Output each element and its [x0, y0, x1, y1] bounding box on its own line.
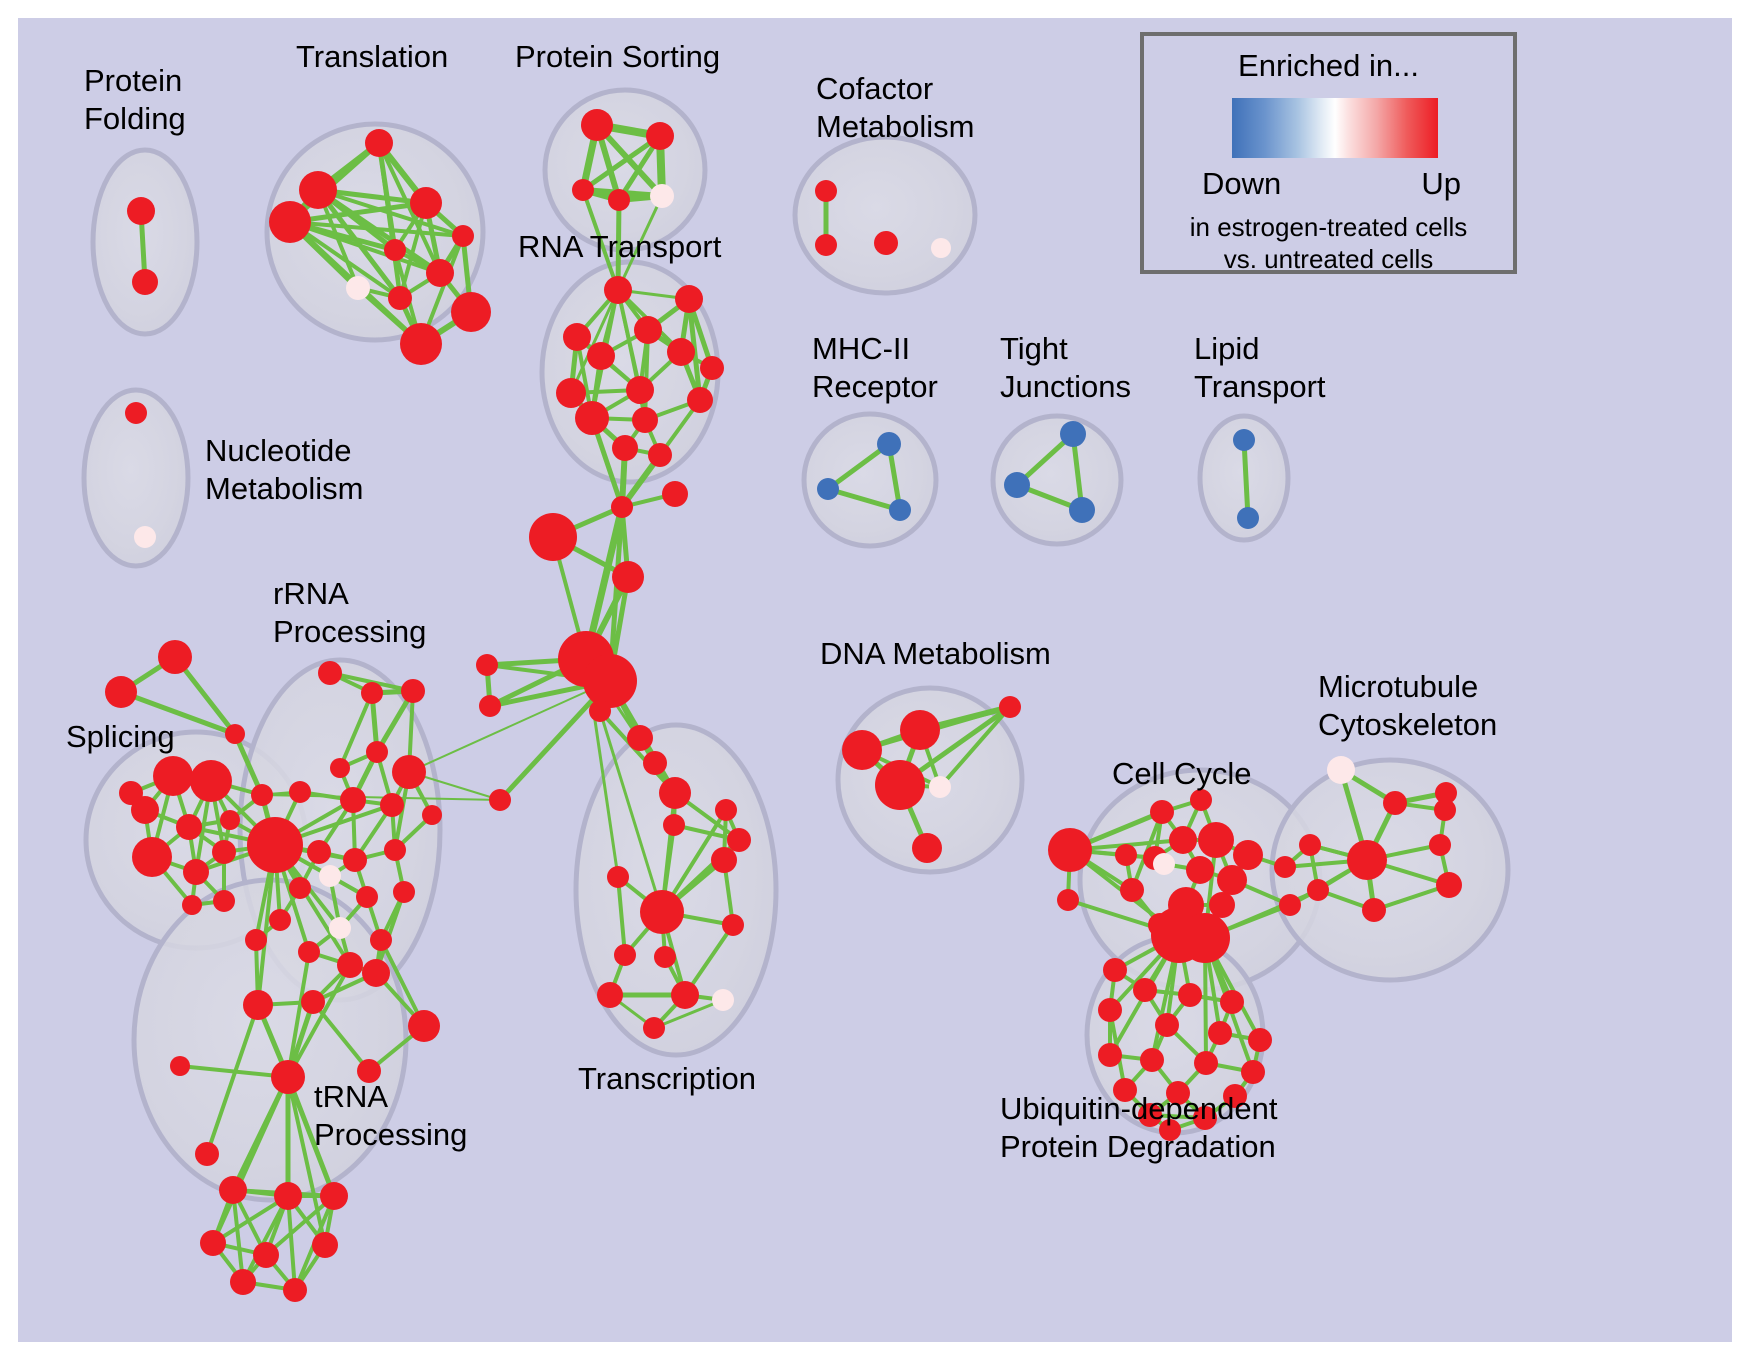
- legend-down-label: Down: [1202, 166, 1281, 202]
- network-node[interactable]: [105, 676, 137, 708]
- network-node[interactable]: [1241, 1060, 1265, 1084]
- network-node[interactable]: [158, 640, 192, 674]
- network-node[interactable]: [361, 682, 383, 704]
- network-node[interactable]: [320, 1182, 348, 1210]
- network-node[interactable]: [1133, 978, 1157, 1002]
- network-node[interactable]: [393, 881, 415, 903]
- network-node[interactable]: [614, 944, 636, 966]
- network-node[interactable]: [634, 316, 662, 344]
- network-node[interactable]: [220, 810, 240, 830]
- legend-subtitle-line-1: in estrogen-treated cells: [1144, 212, 1513, 243]
- network-node[interactable]: [659, 777, 691, 809]
- network-node[interactable]: [1299, 834, 1321, 856]
- network-node[interactable]: [401, 679, 425, 703]
- network-node[interactable]: [611, 496, 633, 518]
- network-node[interactable]: [643, 1017, 665, 1039]
- cluster-label-microtubule-cytoskeleton: Microtubule Cytoskeleton: [1318, 668, 1497, 744]
- network-node[interactable]: [589, 700, 611, 722]
- network-node[interactable]: [1383, 791, 1407, 815]
- network-node[interactable]: [343, 848, 367, 872]
- network-node[interactable]: [1069, 497, 1095, 523]
- network-node[interactable]: [1115, 844, 1137, 866]
- network-node[interactable]: [283, 1278, 307, 1302]
- network-node[interactable]: [1194, 1051, 1218, 1075]
- network-node[interactable]: [370, 929, 392, 951]
- network-node[interactable]: [999, 696, 1021, 718]
- network-node[interactable]: [388, 286, 412, 310]
- cluster-label-cell-cycle: Cell Cycle: [1112, 755, 1252, 793]
- network-node[interactable]: [451, 292, 491, 332]
- network-node[interactable]: [362, 959, 390, 987]
- network-node[interactable]: [212, 840, 236, 864]
- cluster-label-dna-metabolism: DNA Metabolism: [820, 635, 1051, 673]
- network-node[interactable]: [356, 886, 378, 908]
- network-node[interactable]: [289, 781, 311, 803]
- network-node[interactable]: [1169, 826, 1197, 854]
- cluster-label-splicing: Splicing: [66, 718, 175, 756]
- legend-title: Enriched in...: [1144, 48, 1513, 84]
- network-node[interactable]: [874, 231, 898, 255]
- network-node[interactable]: [597, 982, 623, 1008]
- network-node[interactable]: [912, 833, 942, 863]
- network-node[interactable]: [529, 513, 577, 561]
- network-node[interactable]: [1098, 1043, 1122, 1067]
- network-node[interactable]: [1057, 889, 1079, 911]
- network-node[interactable]: [722, 914, 744, 936]
- network-node[interactable]: [132, 269, 158, 295]
- network-node[interactable]: [842, 730, 882, 770]
- network-node[interactable]: [298, 941, 320, 963]
- network-node[interactable]: [132, 837, 172, 877]
- network-node[interactable]: [604, 276, 632, 304]
- network-node[interactable]: [727, 828, 751, 852]
- cluster-label-protein-sorting: Protein Sorting: [515, 38, 720, 76]
- network-node[interactable]: [1208, 1021, 1232, 1045]
- network-node[interactable]: [627, 725, 653, 751]
- network-node[interactable]: [575, 401, 609, 435]
- cluster-label-translation: Translation: [296, 38, 448, 76]
- network-node[interactable]: [274, 1182, 302, 1210]
- network-node[interactable]: [711, 847, 737, 873]
- network-node[interactable]: [289, 877, 311, 899]
- cluster-label-protein-folding: Protein Folding: [84, 62, 186, 138]
- network-node[interactable]: [1362, 898, 1386, 922]
- network-node[interactable]: [1120, 878, 1144, 902]
- network-node[interactable]: [1098, 998, 1122, 1022]
- legend-up-label: Up: [1421, 166, 1461, 202]
- network-node[interactable]: [583, 654, 637, 708]
- network-node[interactable]: [422, 805, 442, 825]
- network-node[interactable]: [587, 342, 615, 370]
- network-node[interactable]: [572, 179, 594, 201]
- network-node[interactable]: [712, 989, 734, 1011]
- network-node[interactable]: [607, 866, 629, 888]
- network-node[interactable]: [269, 909, 291, 931]
- network-node[interactable]: [380, 793, 404, 817]
- cluster-label-lipid-transport: Lipid Transport: [1194, 330, 1326, 406]
- network-node[interactable]: [330, 758, 350, 778]
- network-node[interactable]: [176, 814, 202, 840]
- cluster-label-trna-processing: tRNA Processing: [314, 1078, 467, 1154]
- network-node[interactable]: [225, 724, 245, 744]
- network-node[interactable]: [1274, 856, 1296, 878]
- network-node[interactable]: [817, 478, 839, 500]
- network-node[interactable]: [408, 1010, 440, 1042]
- cluster-label-tight-junctions: Tight Junctions: [1000, 330, 1131, 406]
- network-node[interactable]: [119, 781, 143, 805]
- network-node[interactable]: [663, 814, 685, 836]
- network-node[interactable]: [632, 407, 658, 433]
- network-node[interactable]: [626, 376, 654, 404]
- network-node[interactable]: [251, 784, 273, 806]
- figure-canvas: Protein FoldingTranslationProtein Sortin…: [0, 0, 1750, 1360]
- cluster-label-rrna-processing: rRNA Processing: [273, 575, 426, 651]
- network-node[interactable]: [319, 865, 341, 887]
- network-node[interactable]: [247, 817, 303, 873]
- network-edge: [288, 1196, 295, 1290]
- network-node[interactable]: [1140, 1048, 1164, 1072]
- network-node[interactable]: [667, 338, 695, 366]
- network-node[interactable]: [1217, 865, 1247, 895]
- network-node[interactable]: [384, 839, 406, 861]
- network-node[interactable]: [134, 526, 156, 548]
- network-node[interactable]: [563, 323, 591, 351]
- network-node[interactable]: [675, 285, 703, 313]
- network-node[interactable]: [170, 1056, 190, 1076]
- network-node[interactable]: [1220, 990, 1244, 1014]
- network-node[interactable]: [1436, 872, 1462, 898]
- network-node[interactable]: [1004, 472, 1030, 498]
- network-node[interactable]: [900, 710, 940, 750]
- network-node[interactable]: [1233, 429, 1255, 451]
- network-node[interactable]: [1429, 834, 1451, 856]
- network-node[interactable]: [269, 201, 311, 243]
- network-node[interactable]: [648, 443, 672, 467]
- network-node[interactable]: [929, 776, 951, 798]
- network-node[interactable]: [612, 435, 638, 461]
- network-node[interactable]: [1307, 879, 1329, 901]
- network-node[interactable]: [1327, 756, 1355, 784]
- network-node[interactable]: [646, 122, 674, 150]
- network-node[interactable]: [556, 378, 586, 408]
- cluster-label-transcription: Transcription: [578, 1060, 756, 1098]
- network-node[interactable]: [489, 789, 511, 811]
- network-node[interactable]: [153, 756, 193, 796]
- network-node[interactable]: [1209, 892, 1235, 918]
- network-node[interactable]: [182, 895, 202, 915]
- network-node[interactable]: [1248, 1028, 1272, 1052]
- network-node[interactable]: [479, 695, 501, 717]
- network-node[interactable]: [476, 654, 498, 676]
- network-node[interactable]: [1237, 507, 1259, 529]
- network-node[interactable]: [700, 356, 724, 380]
- network-node[interactable]: [200, 1230, 226, 1256]
- network-node[interactable]: [1060, 421, 1086, 447]
- network-node[interactable]: [253, 1242, 279, 1268]
- network-node[interactable]: [337, 952, 363, 978]
- cluster-hull-protein-sorting: [545, 90, 705, 250]
- network-node[interactable]: [452, 225, 474, 247]
- network-node[interactable]: [230, 1269, 256, 1295]
- cluster-label-cofactor-metabolism: Cofactor Metabolism: [816, 70, 975, 146]
- network-node[interactable]: [340, 787, 366, 813]
- network-node[interactable]: [392, 755, 426, 789]
- legend-color-gradient-bar: [1232, 98, 1438, 158]
- network-node[interactable]: [213, 890, 235, 912]
- network-node[interactable]: [1233, 840, 1263, 870]
- network-node[interactable]: [312, 1232, 338, 1258]
- network-node[interactable]: [1279, 894, 1301, 916]
- network-node[interactable]: [426, 259, 454, 287]
- network-node[interactable]: [219, 1176, 247, 1204]
- network-node[interactable]: [581, 109, 613, 141]
- network-node[interactable]: [329, 917, 351, 939]
- network-node[interactable]: [875, 760, 925, 810]
- network-node[interactable]: [195, 1142, 219, 1166]
- network-node[interactable]: [243, 990, 273, 1020]
- network-node[interactable]: [299, 171, 337, 209]
- network-node[interactable]: [815, 180, 837, 202]
- network-node[interactable]: [125, 402, 147, 424]
- network-node[interactable]: [346, 276, 370, 300]
- network-node[interactable]: [1155, 1013, 1179, 1037]
- network-node[interactable]: [650, 184, 674, 208]
- network-node[interactable]: [400, 323, 442, 365]
- network-node[interactable]: [1150, 800, 1174, 824]
- network-node[interactable]: [877, 432, 901, 456]
- network-node[interactable]: [183, 859, 209, 885]
- network-node[interactable]: [1048, 828, 1092, 872]
- network-node[interactable]: [1103, 958, 1127, 982]
- network-node[interactable]: [608, 189, 630, 211]
- network-node[interactable]: [1180, 913, 1230, 963]
- network-node[interactable]: [671, 981, 699, 1009]
- network-node[interactable]: [1178, 983, 1202, 1007]
- network-node[interactable]: [889, 499, 911, 521]
- network-node[interactable]: [1347, 840, 1387, 880]
- network-node[interactable]: [301, 990, 325, 1014]
- network-node[interactable]: [1153, 853, 1175, 875]
- network-node[interactable]: [654, 946, 676, 968]
- network-node[interactable]: [1434, 799, 1456, 821]
- network-node[interactable]: [318, 661, 342, 685]
- network-node[interactable]: [687, 387, 713, 413]
- network-node[interactable]: [410, 187, 442, 219]
- cluster-hull-cofactor-metabolism: [795, 137, 975, 293]
- network-node[interactable]: [643, 751, 667, 775]
- legend-panel: Enriched in... Down Up in estrogen-treat…: [1140, 32, 1517, 274]
- network-node[interactable]: [815, 234, 837, 256]
- cluster-label-nucleotide-metabolism: Nucleotide Metabolism: [205, 432, 364, 508]
- network-node[interactable]: [307, 840, 331, 864]
- network-node[interactable]: [365, 129, 393, 157]
- network-node[interactable]: [366, 741, 388, 763]
- legend-subtitle-line-2: vs. untreated cells: [1144, 244, 1513, 275]
- network-node[interactable]: [271, 1060, 305, 1094]
- network-node[interactable]: [612, 561, 644, 593]
- cluster-label-rna-transport: RNA Transport: [518, 228, 721, 266]
- network-node[interactable]: [384, 239, 406, 261]
- network-node[interactable]: [127, 197, 155, 225]
- network-node[interactable]: [640, 890, 684, 934]
- network-node[interactable]: [1186, 856, 1214, 884]
- network-node[interactable]: [1198, 822, 1234, 858]
- network-node[interactable]: [245, 929, 267, 951]
- network-node[interactable]: [662, 481, 688, 507]
- cluster-label-ubiquitin-protein-degradation: Ubiquitin-dependent Protein Degradation: [1000, 1090, 1278, 1166]
- network-node[interactable]: [931, 238, 951, 258]
- network-node[interactable]: [715, 799, 737, 821]
- cluster-label-mhc-ii-receptor: MHC-II Receptor: [812, 330, 938, 406]
- network-node[interactable]: [190, 760, 232, 802]
